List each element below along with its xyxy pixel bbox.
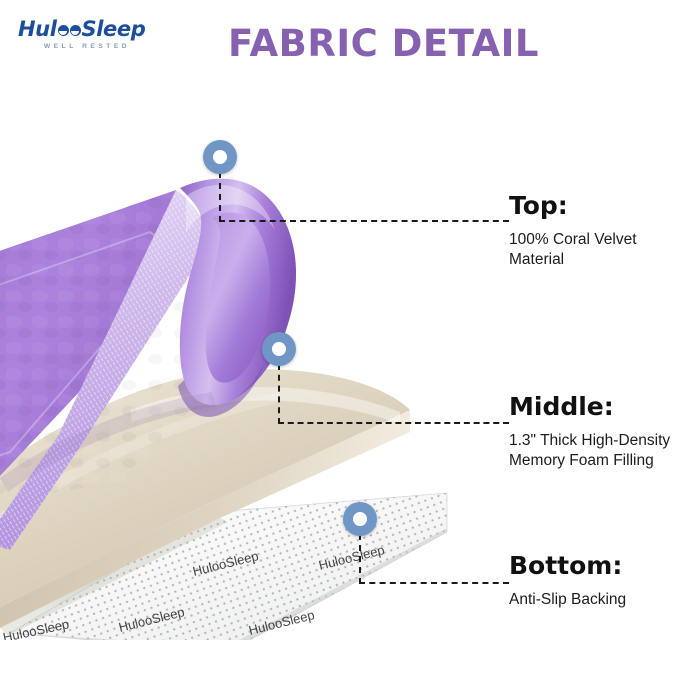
leader-line-bottom-horizontal (359, 582, 509, 584)
leader-line-top (219, 172, 509, 222)
brand-logo-text-second: Sleep (82, 19, 146, 40)
callout-dot-center-bottom (353, 512, 367, 526)
callout-bottom-heading: Bottom: (509, 551, 679, 581)
sleeping-eyes-icon (58, 25, 81, 36)
brand-tagline: WELL RESTED (44, 43, 163, 50)
callout-dot-center-middle (272, 342, 286, 356)
callout-dot-icon-top[interactable] (203, 140, 237, 174)
leader-line-middle-vertical (278, 364, 280, 424)
callout-top-heading: Top: (509, 191, 679, 221)
callout-middle: Middle: 1.3" Thick High-Density Memory F… (509, 392, 679, 471)
leader-line-top-vertical (219, 172, 221, 222)
callout-bottom: Bottom: Anti-Slip Backing (509, 551, 679, 610)
brand-logo-text-first: Hul (18, 19, 57, 40)
callout-bottom-body: Anti-Slip Backing (509, 590, 679, 610)
leader-line-bottom (359, 534, 509, 584)
infographic-canvas: Hul Sleep WELL RESTED FABRIC DETAIL (0, 0, 679, 679)
leader-line-top-horizontal (219, 220, 509, 222)
leader-line-middle (278, 364, 509, 424)
page-title: FABRIC DETAIL (228, 22, 539, 66)
sleeping-eye-right-icon (70, 25, 81, 36)
callout-top: Top: 100% Coral Velvet Material (509, 191, 679, 270)
callout-middle-heading: Middle: (509, 392, 679, 422)
leader-line-bottom-vertical (359, 534, 361, 584)
brand-logo: Hul Sleep WELL RESTED (18, 19, 163, 50)
brand-logo-wordmark: Hul Sleep (18, 19, 163, 40)
leader-line-middle-horizontal (278, 422, 509, 424)
callout-top-body: 100% Coral Velvet Material (509, 230, 679, 270)
callout-middle-body: 1.3" Thick High-Density Memory Foam Fill… (509, 431, 679, 471)
callout-dot-icon-bottom[interactable] (343, 502, 377, 536)
callout-dot-icon-middle[interactable] (262, 332, 296, 366)
sleeping-eye-left-icon (58, 25, 69, 36)
callout-dot-center-top (213, 150, 227, 164)
